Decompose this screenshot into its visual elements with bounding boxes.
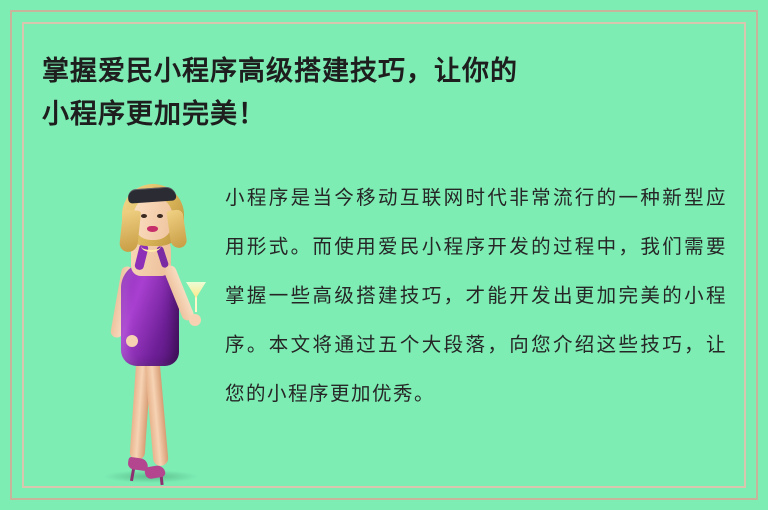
cocktail-glass-icon (186, 282, 206, 298)
necklace (141, 240, 161, 252)
eye-right (157, 214, 163, 218)
cocktail-glass-stem (195, 296, 197, 312)
hand-right (189, 314, 201, 326)
page-title: 掌握爱民小程序高级搭建技巧，让你的 小程序更加完美！ (42, 50, 722, 136)
lips (147, 226, 158, 232)
poster-content: 掌握爱民小程序高级搭建技巧，让你的 小程序更加完美！ (30, 30, 738, 480)
body-paragraph: 小程序是当今移动互联网时代非常流行的一种新型应用形式。而使用爱民小程序开发的过程… (225, 173, 727, 418)
poster-canvas: 掌握爱民小程序高级搭建技巧，让你的 小程序更加完美！ (0, 0, 768, 510)
leg-right (144, 356, 169, 467)
hand-left (126, 335, 138, 347)
illustration (85, 170, 220, 490)
eye-left (141, 214, 147, 218)
